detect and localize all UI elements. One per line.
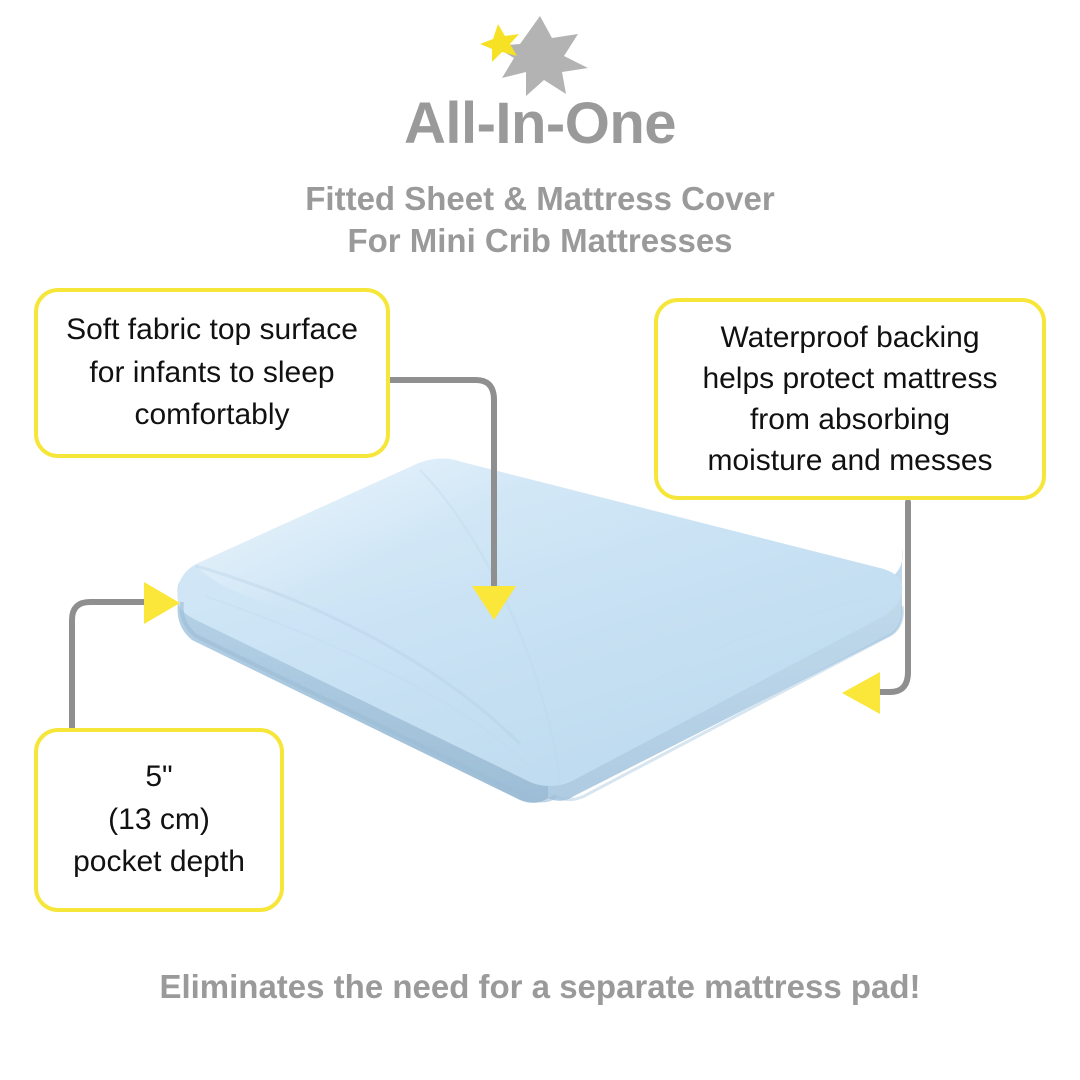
callout-waterproof-line-1: Waterproof backing xyxy=(720,317,979,358)
callout-soft-fabric-line-3: comfortably xyxy=(134,394,289,437)
callout-soft-fabric-line-1: Soft fabric top surface xyxy=(66,309,358,352)
connector-soft-fabric xyxy=(388,380,516,620)
callout-waterproof: Waterproof backing helps protect mattres… xyxy=(654,298,1046,500)
callout-connectors xyxy=(0,0,1080,1080)
callout-waterproof-line-4: moisture and messes xyxy=(707,440,992,481)
callout-waterproof-line-2: helps protect mattress xyxy=(702,358,997,399)
callout-pocket-depth-line-2: (13 cm) xyxy=(108,799,210,842)
callout-pocket-depth: 5" (13 cm) pocket depth xyxy=(34,728,284,912)
infographic-canvas: All-In-One Fitted Sheet & Mattress Cover… xyxy=(0,0,1080,1080)
down-arrow-icon xyxy=(472,586,516,620)
left-arrow-icon xyxy=(842,672,880,714)
right-arrow-icon xyxy=(144,582,180,624)
callout-soft-fabric-line-2: for infants to sleep xyxy=(89,352,334,395)
callout-pocket-depth-line-3: pocket depth xyxy=(73,841,245,884)
callout-waterproof-line-3: from absorbing xyxy=(750,399,950,440)
connector-waterproof xyxy=(842,502,908,714)
callout-soft-fabric: Soft fabric top surface for infants to s… xyxy=(34,288,390,458)
callout-pocket-depth-line-1: 5" xyxy=(145,756,172,799)
connector-pocket-depth xyxy=(72,582,180,730)
